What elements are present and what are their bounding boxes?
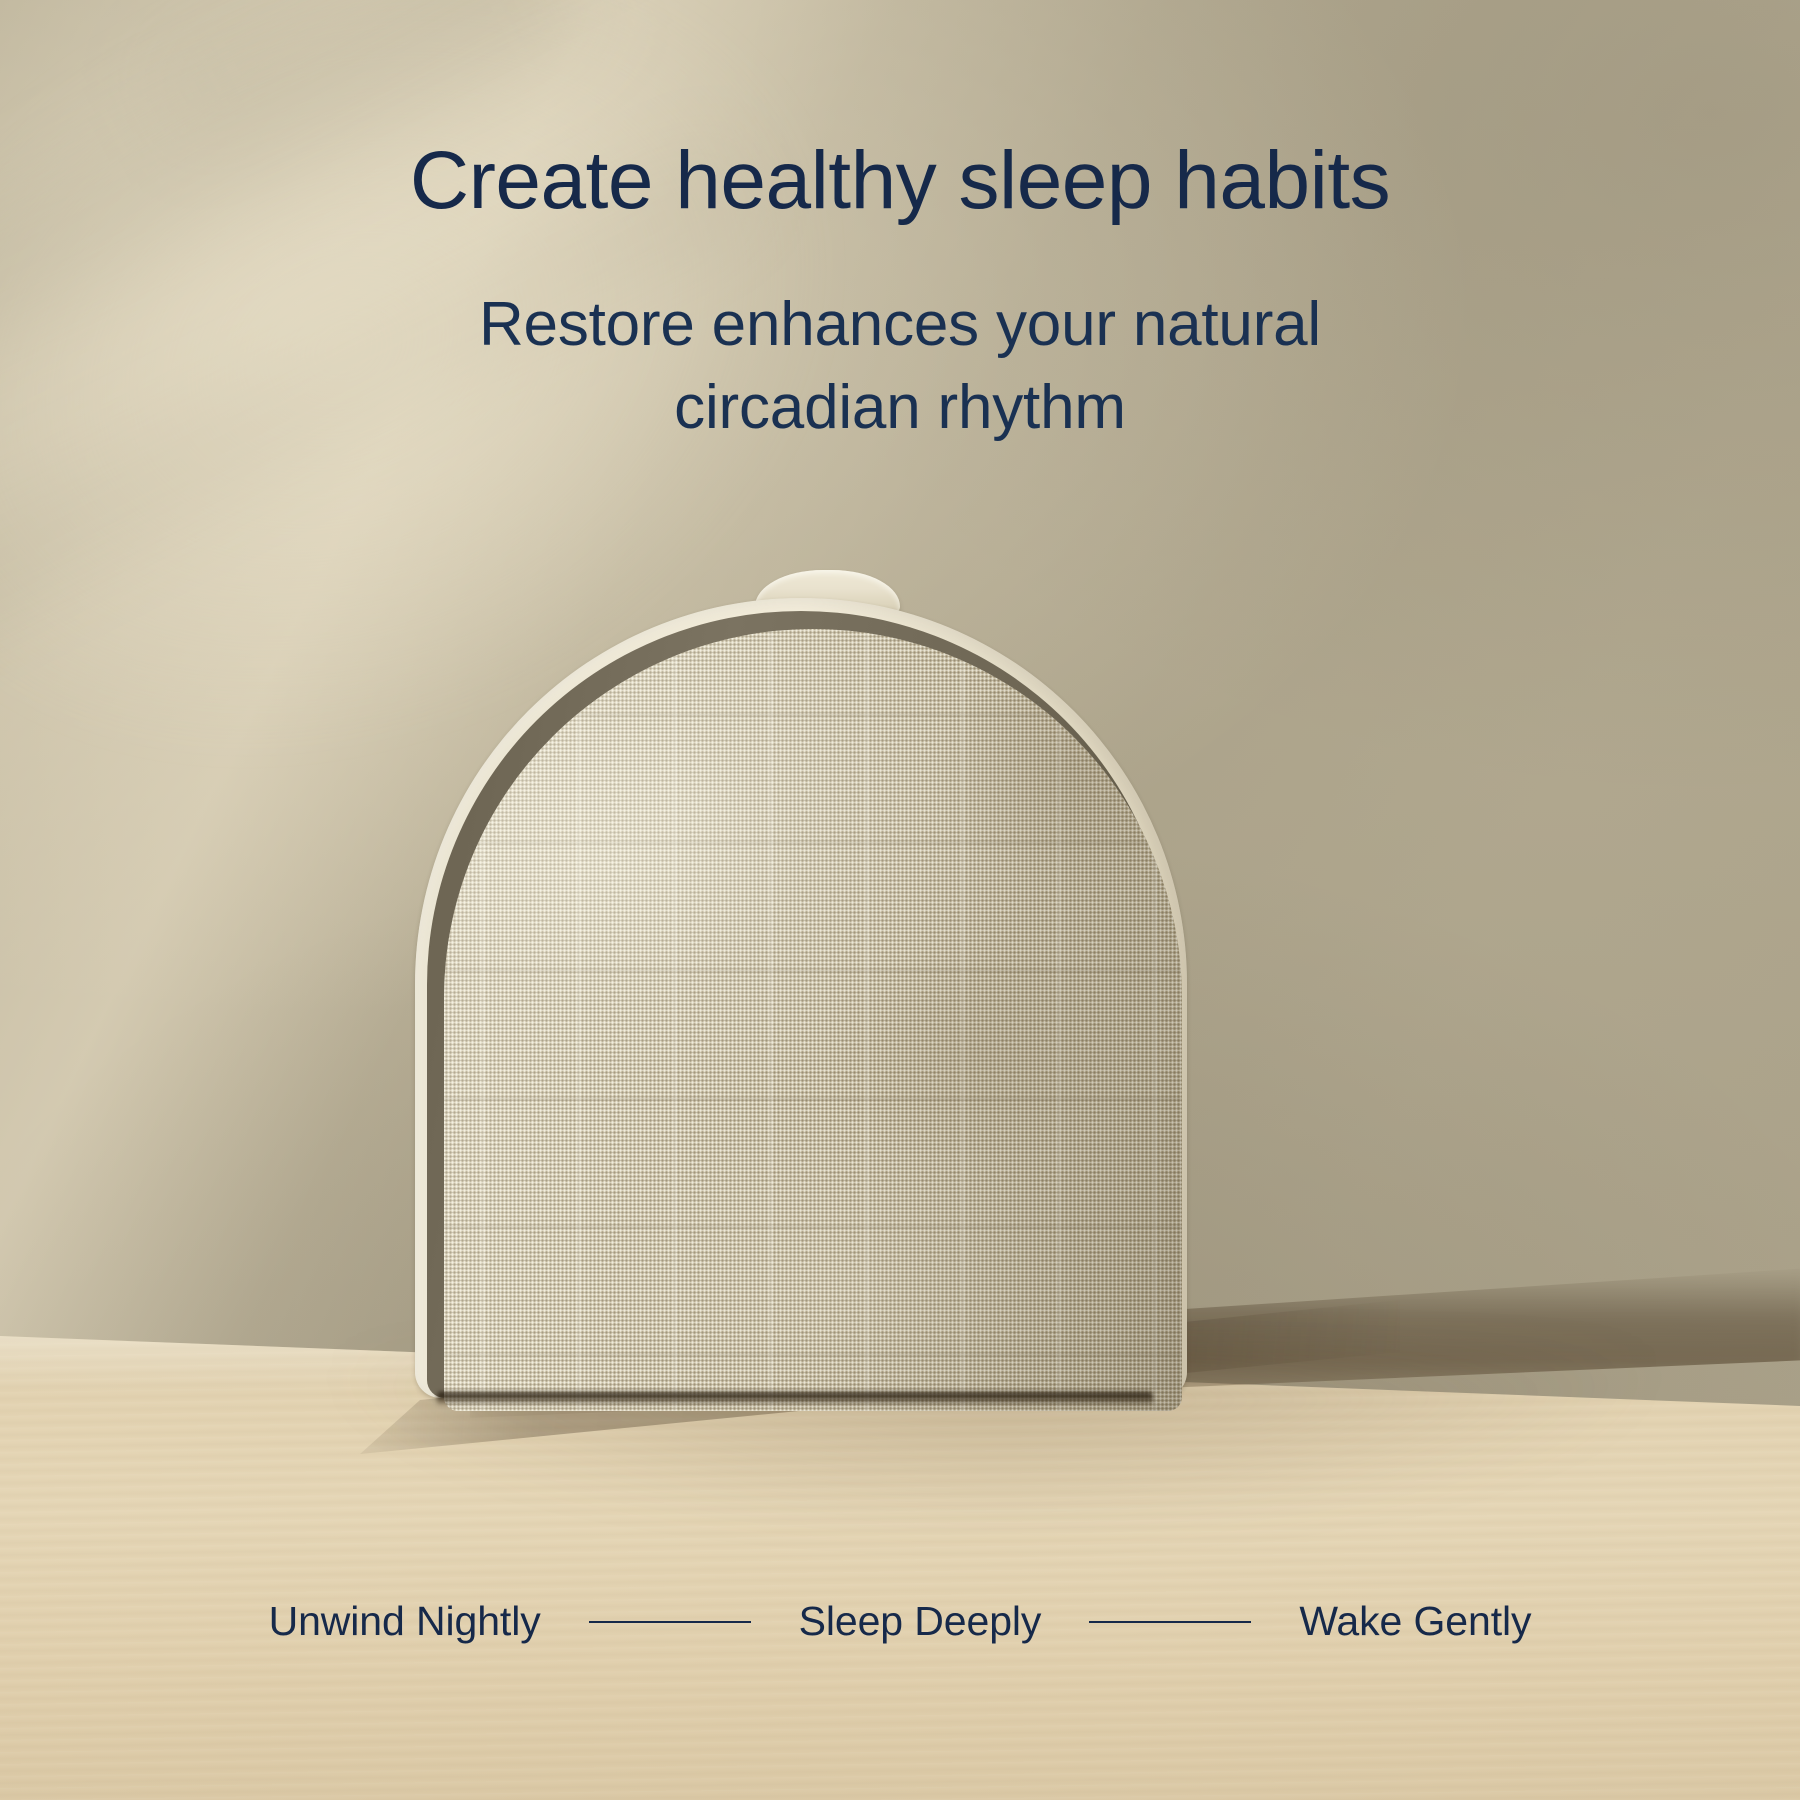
step-label-sleep-deeply: Sleep Deeply bbox=[799, 1598, 1042, 1645]
step-separator-line bbox=[1089, 1621, 1251, 1623]
subheadline: Restore enhances your natural circadian … bbox=[300, 283, 1500, 449]
step-separator-line bbox=[589, 1621, 751, 1623]
device-bezel bbox=[415, 598, 1187, 1398]
subheadline-line-2: circadian rhythm bbox=[674, 373, 1126, 442]
subheadline-line-1: Restore enhances your natural bbox=[479, 290, 1321, 359]
sleep-journey-steps: Unwind Nightly Sleep Deeply Wake Gently bbox=[0, 1598, 1800, 1645]
step-label-wake-gently: Wake Gently bbox=[1299, 1598, 1531, 1645]
device-contact-shadow bbox=[437, 1392, 1153, 1406]
restore-speaker[interactable] bbox=[415, 598, 1187, 1398]
fabric-lighting-overlay bbox=[444, 629, 1182, 1411]
device-linen-fabric bbox=[444, 629, 1182, 1411]
headline: Create healthy sleep habits bbox=[0, 140, 1800, 222]
device-recess-line bbox=[427, 611, 1175, 1398]
step-label-unwind-nightly: Unwind Nightly bbox=[269, 1598, 541, 1645]
promo-image: Create healthy sleep habits Restore enha… bbox=[0, 0, 1800, 1800]
